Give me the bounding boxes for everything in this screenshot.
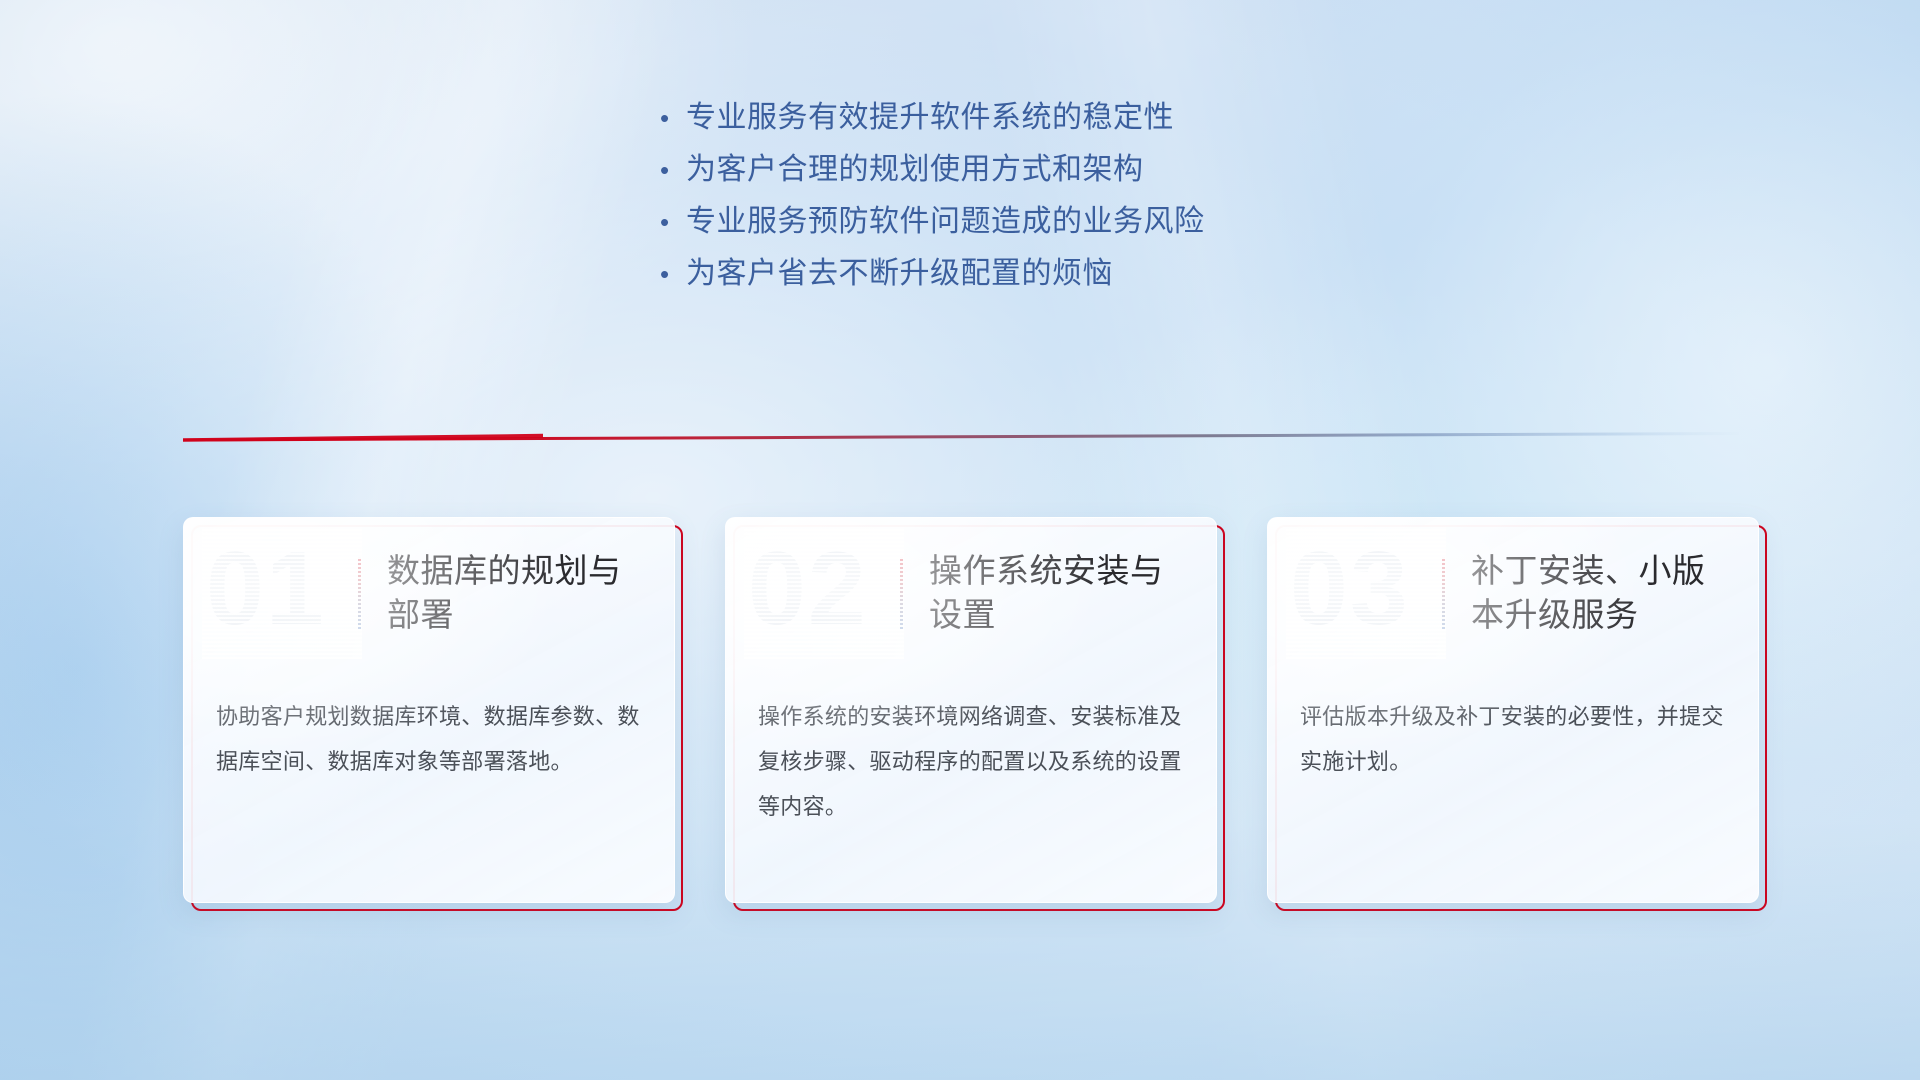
card-header: 01 数据库的规划与部署	[184, 518, 674, 668]
bullet-dot-icon: •	[660, 252, 686, 296]
bullet-text: 专业服务预防软件问题造成的业务风险	[686, 200, 1205, 244]
card-number-text: 02	[748, 529, 868, 649]
bullet-dot-icon: •	[660, 200, 686, 244]
card-panel: 01 数据库的规划与部署 协助客户规划数据库环境、数据库参数、数据库空间、数据库…	[183, 517, 675, 903]
card-number-watermark: 01	[206, 533, 354, 653]
bullet-text: 专业服务有效提升软件系统的稳定性	[686, 96, 1174, 140]
card-number-text: 01	[206, 529, 326, 649]
card-accent-rule	[1442, 557, 1445, 629]
card-number-watermark: 02	[748, 533, 896, 653]
card-panel: 03 补丁安装、小版本升级服务 评估版本升级及补丁安装的必要性，并提交实施计划。	[1267, 517, 1759, 903]
card-number-watermark: 03	[1290, 533, 1438, 653]
card-description: 评估版本升级及补丁安装的必要性，并提交实施计划。	[1300, 694, 1728, 784]
card-description: 协助客户规划数据库环境、数据库参数、数据库空间、数据库对象等部署落地。	[216, 694, 644, 784]
card-title: 补丁安装、小版本升级服务	[1471, 549, 1721, 637]
card-accent-rule	[900, 557, 903, 629]
card-title: 数据库的规划与部署	[387, 549, 637, 637]
bullet-text: 为客户合理的规划使用方式和架构	[686, 148, 1144, 192]
service-card[interactable]: 01 数据库的规划与部署 协助客户规划数据库环境、数据库参数、数据库空间、数据库…	[183, 517, 675, 911]
service-card[interactable]: 03 补丁安装、小版本升级服务 评估版本升级及补丁安装的必要性，并提交实施计划。	[1267, 517, 1759, 911]
card-accent-rule	[358, 557, 361, 629]
bullet-text: 为客户省去不断升级配置的烦恼	[686, 252, 1113, 296]
service-card-group: 01 数据库的规划与部署 协助客户规划数据库环境、数据库参数、数据库空间、数据库…	[183, 517, 1758, 917]
benefits-bullet-list: • 专业服务有效提升软件系统的稳定性 • 为客户合理的规划使用方式和架构 • 专…	[660, 96, 1420, 304]
card-header: 02 操作系统安装与设置	[726, 518, 1216, 668]
card-number-text: 03	[1290, 529, 1410, 649]
list-item: • 为客户省去不断升级配置的烦恼	[660, 252, 1420, 304]
card-header: 03 补丁安装、小版本升级服务	[1268, 518, 1758, 668]
slide-canvas: • 专业服务有效提升软件系统的稳定性 • 为客户合理的规划使用方式和架构 • 专…	[0, 0, 1920, 1080]
list-item: • 专业服务预防软件问题造成的业务风险	[660, 200, 1420, 252]
list-item: • 专业服务有效提升软件系统的稳定性	[660, 96, 1420, 148]
card-description: 操作系统的安装环境网络调查、安装标准及复核步骤、驱动程序的配置以及系统的设置等内…	[758, 694, 1186, 829]
card-title: 操作系统安装与设置	[929, 549, 1179, 637]
divider-wedge-icon	[183, 424, 1739, 448]
bullet-dot-icon: •	[660, 96, 686, 140]
list-item: • 为客户合理的规划使用方式和架构	[660, 148, 1420, 200]
service-card[interactable]: 02 操作系统安装与设置 操作系统的安装环境网络调查、安装标准及复核步骤、驱动程…	[725, 517, 1217, 911]
bullet-dot-icon: •	[660, 148, 686, 192]
section-divider	[183, 424, 1739, 448]
card-panel: 02 操作系统安装与设置 操作系统的安装环境网络调查、安装标准及复核步骤、驱动程…	[725, 517, 1217, 903]
